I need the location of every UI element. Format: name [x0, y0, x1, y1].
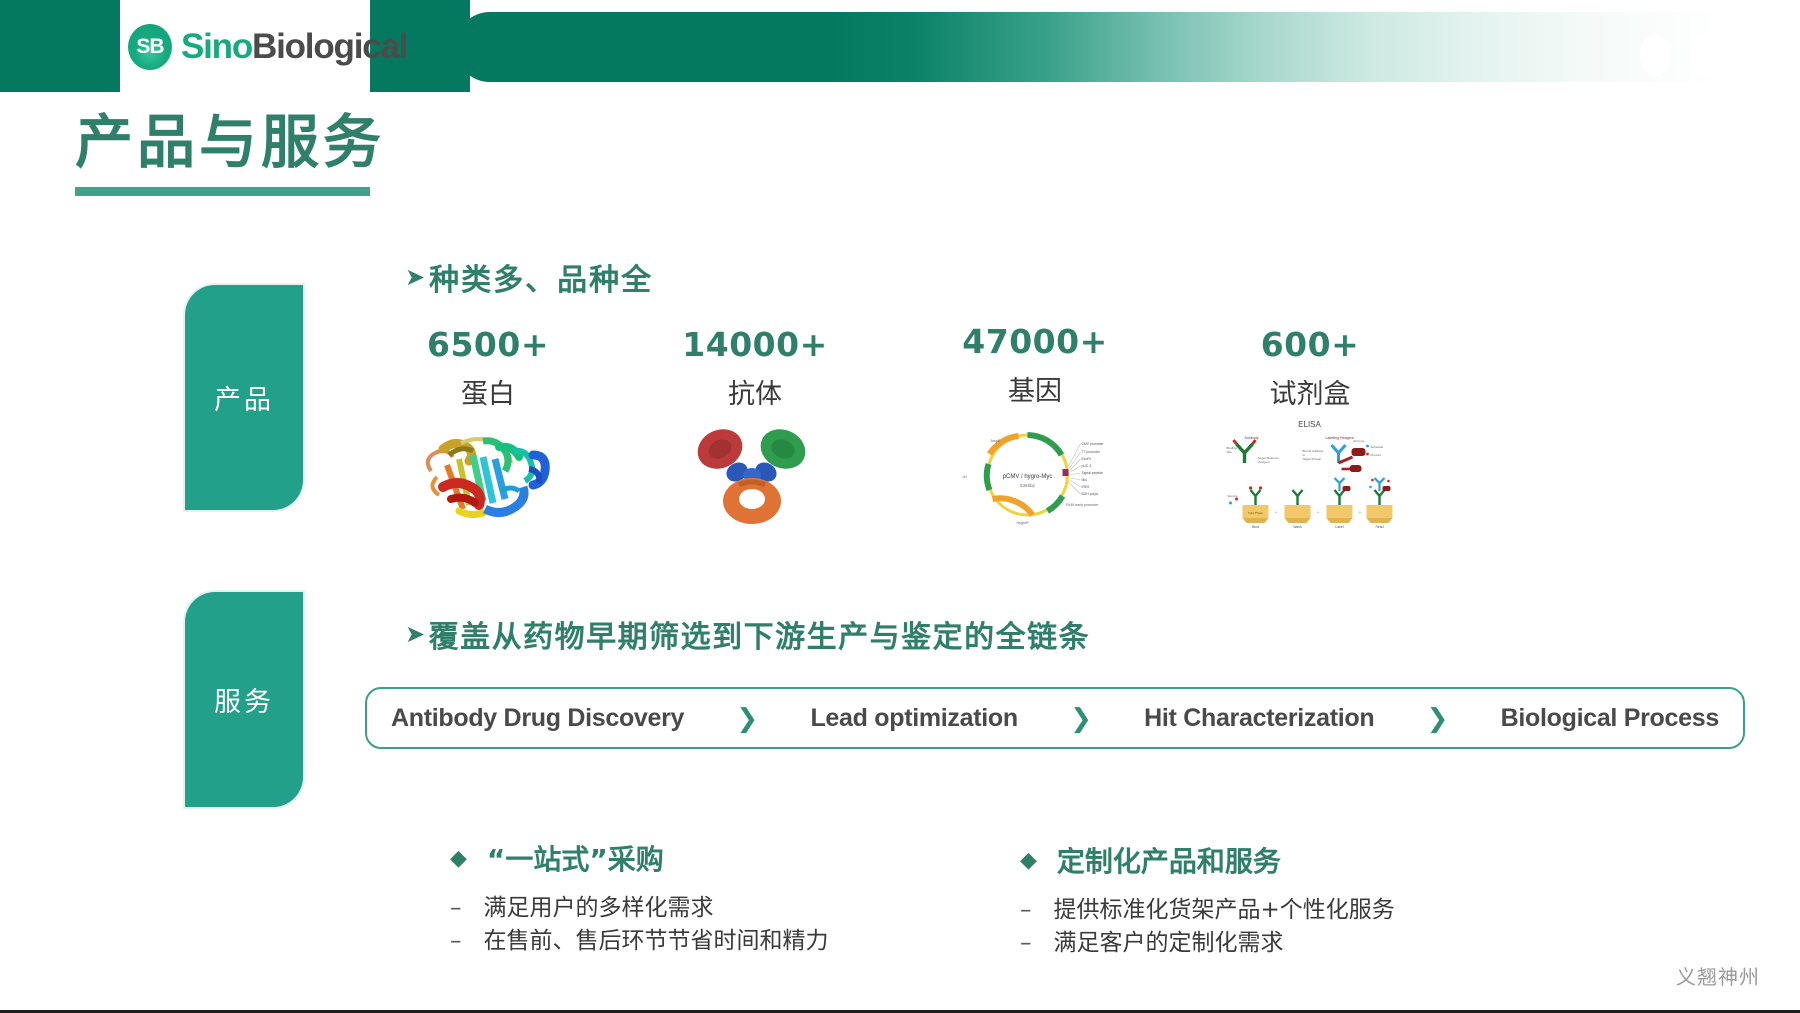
highlight-heading: ◆ 定制化产品和服务 [1020, 840, 1395, 880]
chevron-right-icon: ❯ [736, 703, 758, 734]
highlight-title: 定制化产品和服务 [1057, 840, 1281, 880]
chevron-right-icon: ❯ [1427, 703, 1449, 734]
diamond-bullet-icon: ◆ [450, 846, 467, 871]
slide-root: SB SinoBiological 产品与服务 产品 ➤ 种类多、品种全 650… [0, 0, 1800, 1013]
sidebar-tab-services-label: 服务 [214, 680, 274, 719]
title-underline [75, 187, 370, 196]
svg-text:+: + [1359, 510, 1362, 516]
stat-card-antibody: 14000+ 抗体 [635, 325, 875, 525]
dash-bullet-icon: – [450, 925, 462, 958]
antibody-structure-icon [635, 425, 875, 525]
stat-label: 基因 [915, 369, 1155, 408]
sidebar-tab-services[interactable]: 服务 [185, 592, 303, 807]
highlight-item: – 满足用户的多样化需求 [450, 892, 829, 925]
highlight-group-customization: ◆ 定制化产品和服务 – 提供标准化货架产品+个性化服务 – 满足客户的定制化需… [1020, 840, 1395, 961]
dash-bullet-icon: – [1020, 927, 1032, 960]
pipeline-step-2[interactable]: Lead optimization [810, 704, 1017, 733]
sidebar-tab-products-label: 产品 [214, 378, 274, 417]
svg-text:Solid Phase: Solid Phase [1248, 511, 1263, 515]
antibody-structure-svg [690, 425, 820, 525]
highlight-item: – 在售前、售后环节节省时间和精力 [450, 925, 829, 958]
highlight-title: “一站式”采购 [487, 838, 664, 878]
logo-badge-icon: SB [128, 24, 172, 70]
svg-text:ori: ori [963, 475, 967, 479]
products-headline: ➤ 种类多、品种全 [405, 255, 653, 299]
arrow-bullet-icon: ➤ [405, 265, 427, 289]
svg-text:Bind: Bind [1252, 525, 1259, 529]
svg-text:Antibody: Antibody [1245, 436, 1259, 440]
slide-header: SB SinoBiological [0, 0, 1800, 92]
stat-label: 蛋白 [368, 372, 608, 411]
dash-bullet-icon: – [1020, 894, 1032, 927]
stat-card-gene: 47000+ 基因 pCMV / hygro-Myc 5369bp [915, 322, 1155, 522]
pipeline-step-4[interactable]: Biological Process [1501, 704, 1719, 733]
svg-text:EcoRI: EcoRI [1082, 457, 1091, 461]
svg-text:BGH polyA: BGH polyA [1082, 492, 1100, 496]
svg-text:Labeling Reagent: Labeling Reagent [1326, 436, 1354, 440]
highlight-item: – 满足客户的定制化需求 [1020, 927, 1395, 960]
page-title: 产品与服务 [75, 112, 385, 173]
stat-card-kit: 600+ 试剂盒 ELISA Antibody Labeling Reagent… [1190, 325, 1430, 525]
svg-text:Target Protein: Target Protein [1303, 457, 1322, 461]
sidebar-tab-products[interactable]: 产品 [185, 285, 303, 510]
svg-text:HygroR: HygroR [1017, 521, 1030, 525]
plasmid-title: pCMV / hygro-Myc [1003, 474, 1053, 480]
page-title-block: 产品与服务 [75, 112, 385, 196]
highlight-item-text: 满足客户的定制化需求 [1054, 927, 1284, 960]
svg-text:CMV promoter: CMV promoter [1082, 442, 1105, 446]
stat-label: 试剂盒 [1190, 372, 1430, 411]
footer-watermark: 义翘神州 [1676, 961, 1760, 990]
header-circle-1 [1640, 34, 1670, 76]
diamond-bullet-icon: ◆ [1020, 848, 1037, 873]
protein-ribbon-icon [368, 425, 608, 525]
header-circle-2 [1690, 34, 1720, 76]
stat-number: 600+ [1190, 325, 1430, 364]
svg-text:Substrate: Substrate [1371, 445, 1384, 449]
svg-text:Label: Label [1335, 525, 1344, 529]
stat-number: 14000+ [635, 325, 875, 364]
svg-text:AmpR: AmpR [991, 439, 1001, 443]
highlight-item-text: 提供标准化货架产品+个性化服务 [1054, 894, 1395, 927]
header-circle-3 [1740, 34, 1766, 76]
products-headline-text: 种类多、品种全 [429, 255, 653, 299]
svg-text:SV40 early promoter: SV40 early promoter [1066, 503, 1100, 507]
svg-text:Signal peptide: Signal peptide [1082, 471, 1104, 475]
svg-text:+: + [1275, 510, 1278, 516]
highlight-item-text: 在售前、售后环节节省时间和精力 [484, 925, 829, 958]
services-headline-text: 覆盖从药物早期筛选到下游生产与鉴定的全链条 [429, 612, 1091, 656]
highlight-items: – 提供标准化货架产品+个性化服务 – 满足客户的定制化需求 [1020, 894, 1395, 961]
stat-number: 47000+ [915, 322, 1155, 361]
svg-text:Site: Site [1227, 450, 1233, 454]
header-gradient-band [455, 12, 1800, 82]
highlight-item: – 提供标准化货架产品+个性化服务 [1020, 894, 1395, 927]
svg-text:+: + [1317, 510, 1320, 516]
brand-logo[interactable]: SB SinoBiological [128, 24, 407, 70]
svg-text:pUC 3: pUC 3 [1082, 464, 1092, 468]
svg-text:Enzyme: Enzyme [1354, 439, 1365, 443]
stat-label: 抗体 [635, 372, 875, 411]
highlight-item-text: 满足用户的多样化需求 [484, 892, 714, 925]
elisa-diagram-svg: ELISA Antibody Labeling Reagent Binding … [1223, 417, 1398, 529]
svg-text:Bound Antibody: Bound Antibody [1303, 449, 1325, 453]
dash-bullet-icon: – [450, 892, 462, 925]
svg-text:Mlu: Mlu [1082, 478, 1088, 482]
stat-card-protein: 6500+ 蛋白 [368, 325, 608, 525]
highlight-heading: ◆ “一站式”采购 [450, 838, 829, 878]
protein-ribbon-svg [413, 425, 563, 525]
services-headline: ➤ 覆盖从药物早期筛选到下游生产与鉴定的全链条 [405, 612, 1090, 656]
svg-text:Product: Product [1371, 453, 1382, 457]
chevron-right-icon: ❯ [1070, 703, 1092, 734]
service-pipeline: Antibody Drug Discovery ❯ Lead optimizat… [365, 687, 1745, 749]
highlight-items: – 满足用户的多样化需求 – 在售前、售后环节节省时间和精力 [450, 892, 829, 959]
elisa-title: ELISA [1298, 420, 1321, 429]
plasmid-size: 5369bp [1020, 483, 1036, 488]
arrow-bullet-icon: ➤ [405, 622, 427, 646]
logo-word-sino: Sino [181, 27, 252, 66]
plasmid-map-svg: pCMV / hygro-Myc 5369bp CMV promoterT7 p… [953, 422, 1118, 527]
svg-text:Read: Read [1375, 525, 1383, 529]
svg-text:T7 promoter: T7 promoter [1082, 450, 1101, 454]
svg-text:(Antigen): (Antigen) [1258, 460, 1270, 464]
logo-word-biological: Biological [252, 27, 407, 66]
highlight-group-one-stop: ◆ “一站式”采购 – 满足用户的多样化需求 – 在售前、售后环节节省时间和精力 [450, 838, 829, 959]
svg-text:Wash: Wash [1293, 525, 1302, 529]
pipeline-step-3[interactable]: Hit Characterization [1144, 704, 1374, 733]
plasmid-map-icon: pCMV / hygro-Myc 5369bp CMV promoterT7 p… [915, 422, 1155, 522]
svg-text:Sample: Sample [1228, 494, 1239, 498]
pipeline-step-1[interactable]: Antibody Drug Discovery [391, 704, 684, 733]
svg-text:IRES: IRES [1082, 485, 1091, 489]
stat-number: 6500+ [368, 325, 608, 364]
logo-wordmark: SinoBiological [181, 27, 407, 67]
elisa-diagram-icon: ELISA Antibody Labeling Reagent Binding … [1190, 425, 1430, 525]
